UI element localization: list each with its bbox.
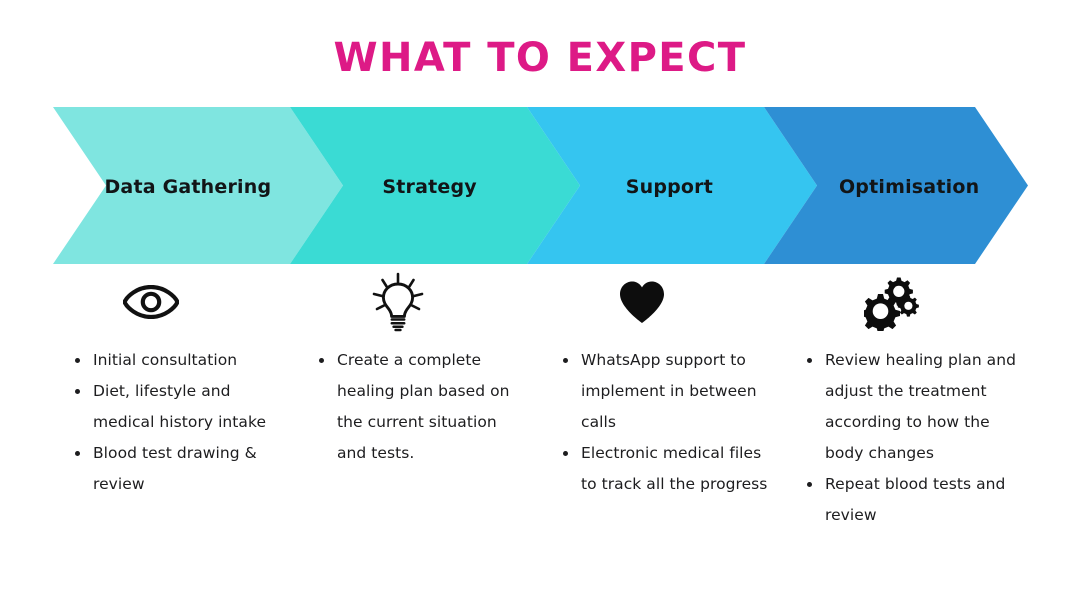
- heart-icon: [545, 266, 791, 338]
- page-title: WHAT TO EXPECT: [0, 33, 1080, 83]
- stage-label-optimisation[interactable]: Optimisation: [788, 107, 1028, 264]
- stage-column-2: Create a complete healing plan based on …: [299, 266, 545, 531]
- stage-column-3: WhatsApp support to implement in between…: [545, 266, 791, 531]
- stage-label-strategy[interactable]: Strategy: [307, 107, 549, 264]
- list-item: Create a complete healing plan based on …: [315, 345, 521, 469]
- stage-label-support[interactable]: Support: [549, 107, 789, 264]
- bullet-list-2: Create a complete healing plan based on …: [315, 345, 521, 469]
- bullet-list-1: Initial consultation Diet, lifestyle and…: [71, 345, 283, 500]
- stage-column-4: Review healing plan and adjust the treat…: [791, 266, 1037, 531]
- list-item: WhatsApp support to implement in between…: [559, 345, 773, 438]
- bullet-list-4: Review healing plan and adjust the treat…: [803, 345, 1031, 531]
- gears-icon: [791, 266, 1037, 338]
- list-item: Diet, lifestyle and medical history inta…: [71, 376, 283, 438]
- eye-icon: [53, 266, 299, 338]
- infographic-page: WHAT TO EXPECT Data Gathering Strategy S…: [0, 0, 1080, 602]
- list-item: Electronic medical files to track all th…: [559, 438, 773, 500]
- banner-label-row: Data Gathering Strategy Support Optimisa…: [53, 107, 1028, 264]
- stage-label-data-gathering[interactable]: Data Gathering: [53, 107, 307, 264]
- stage-column-1: Initial consultation Diet, lifestyle and…: [53, 266, 299, 531]
- list-item: Review healing plan and adjust the treat…: [803, 345, 1031, 469]
- list-item: Repeat blood tests and review: [803, 469, 1031, 531]
- lightbulb-icon: [299, 266, 545, 338]
- list-item: Initial consultation: [71, 345, 283, 376]
- bullet-list-3: WhatsApp support to implement in between…: [559, 345, 773, 500]
- list-item: Blood test drawing & review: [71, 438, 283, 500]
- stage-detail-columns: Initial consultation Diet, lifestyle and…: [53, 266, 1038, 531]
